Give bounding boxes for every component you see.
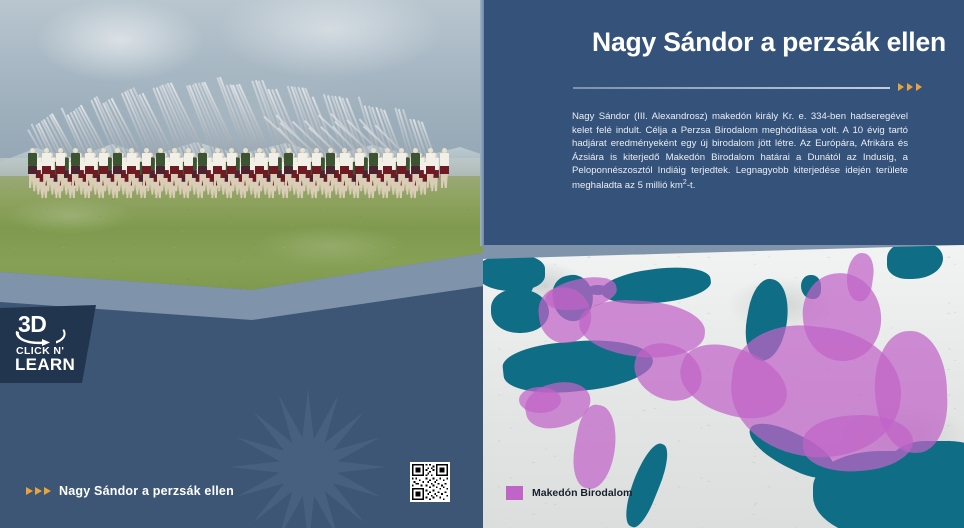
article-paragraph: Nagy Sándor (III. Alexandrosz) makedón k… <box>572 110 908 193</box>
vergina-core <box>303 462 314 473</box>
phalanx-soldier <box>113 148 122 188</box>
phalanx-soldier <box>170 148 179 188</box>
phalanx-soldier <box>56 148 65 188</box>
phalanx-soldier <box>85 148 94 188</box>
phalanx-soldier <box>127 148 136 188</box>
article-text-part1: Nagy Sándor (III. Alexandrosz) makedón k… <box>572 111 908 191</box>
phalanx-soldier <box>369 148 378 188</box>
phalanx-soldier <box>397 148 406 188</box>
title-arrows-icon <box>898 83 922 91</box>
vergina-sun-icon <box>222 381 394 528</box>
phalanx-soldier <box>269 148 278 188</box>
page-title: Nagy Sándor a perzsák ellen <box>576 28 946 57</box>
phalanx-soldier <box>426 148 435 188</box>
legend-swatch-makedon-birodalom <box>506 486 523 500</box>
empire-cyrenaica <box>519 387 561 413</box>
phalanx-soldier <box>227 148 236 188</box>
badge-learn-label: LEARN <box>15 355 75 375</box>
triple-right-arrow-icon <box>26 487 51 495</box>
qr-code-icon <box>412 464 448 500</box>
phalanx-soldier <box>440 148 449 188</box>
phalanx-soldier <box>255 148 264 188</box>
phalanx-soldier <box>284 148 293 188</box>
phalanx-soldier <box>312 148 321 188</box>
footer-caption-text: Nagy Sándor a perzsák ellen <box>59 484 234 498</box>
title-rule <box>573 87 890 89</box>
phalanx-soldier <box>241 148 250 188</box>
title-panel: Nagy Sándor a perzsák ellen Nagy Sándor … <box>484 0 964 246</box>
phalanx-soldier <box>298 148 307 188</box>
phalanx-soldier <box>99 148 108 188</box>
phalanx-soldier <box>42 148 51 188</box>
phalanx-photo <box>0 0 484 300</box>
panel-left-edge <box>480 0 484 246</box>
rotate-arrow-icon <box>12 327 72 347</box>
phalanx-soldier <box>326 148 335 188</box>
legend-label-makedon-birodalom: Makedón Birodalom <box>532 487 632 499</box>
phalanx-soldier <box>142 148 151 188</box>
map-legend: Makedón Birodalom <box>506 486 632 500</box>
phalanx-soldier <box>156 148 165 188</box>
article-text-part2: -t. <box>687 180 696 191</box>
phalanx-soldier <box>213 148 222 188</box>
phalanx-soldier <box>184 148 193 188</box>
footer-caption: Nagy Sándor a perzsák ellen <box>26 484 234 498</box>
phalanx-soldier <box>71 148 80 188</box>
phalanx-soldier <box>383 148 392 188</box>
qr-code[interactable] <box>410 462 450 502</box>
slide-root: 3D CLICK N' LEARN <box>0 0 964 528</box>
phalanx-soldier <box>198 148 207 188</box>
empire-map[interactable]: Makedón Birodalom <box>483 245 964 528</box>
phalanx-soldier <box>340 148 349 188</box>
phalanx-soldier <box>411 148 420 188</box>
phalanx-soldiers <box>28 148 472 210</box>
phalanx-soldier <box>28 148 37 188</box>
phalanx-soldier <box>355 148 364 188</box>
